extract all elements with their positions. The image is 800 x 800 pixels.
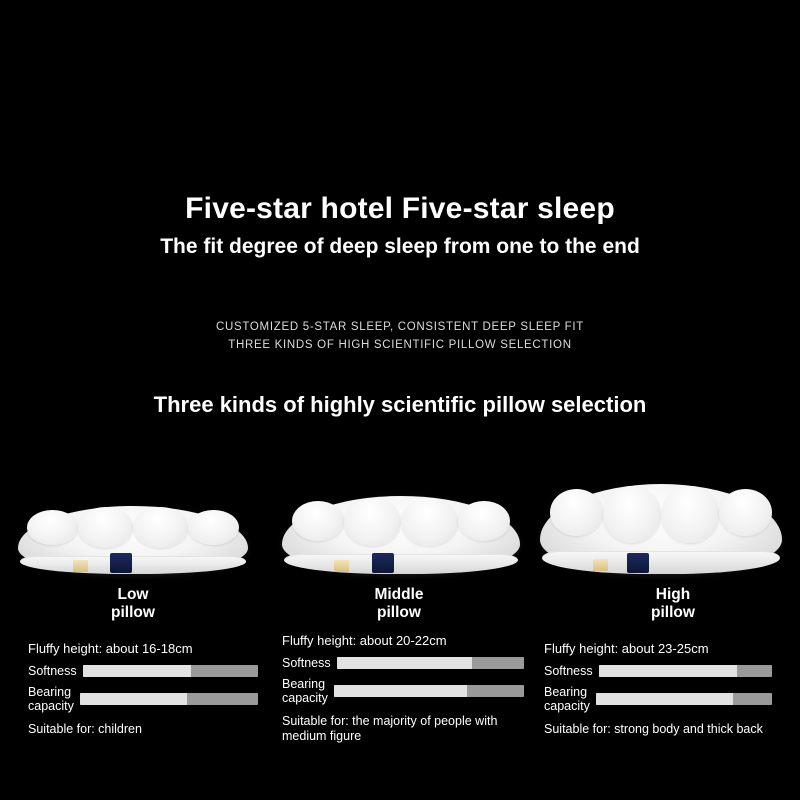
pillow-gold-tag: [593, 559, 608, 571]
softness-row: Softness: [544, 664, 772, 678]
bearing-capacity-bar: [596, 693, 772, 705]
pillow-name-line2: pillow: [618, 604, 728, 622]
pillow-puff: [292, 501, 344, 542]
pillow-name-low: Low pillow: [78, 586, 188, 622]
softness-bar: [83, 665, 258, 677]
pillow-name-high: High pillow: [618, 586, 728, 622]
pillow-puff: [78, 507, 133, 548]
page-subtitle: The fit degree of deep sleep from one to…: [0, 232, 800, 262]
suitable-for-text: Suitable for: strong body and thick back: [544, 722, 772, 737]
bearing-capacity-label-line1: Bearing: [544, 685, 590, 699]
bearing-capacity-bar-fill: [334, 685, 467, 697]
pillow-image-high: [540, 484, 782, 574]
bearing-capacity-label-line1: Bearing: [28, 685, 74, 699]
pillow-name-line2: pillow: [78, 604, 188, 622]
pillow-name-line2: pillow: [344, 604, 454, 622]
section-title: Three kinds of highly scientific pillow …: [0, 392, 800, 418]
softness-label: Softness: [28, 664, 77, 678]
bearing-capacity-bar-fill: [80, 693, 187, 705]
pillow-puff: [661, 486, 719, 544]
softness-bar: [337, 657, 524, 669]
caps-line-2: THREE KINDS OF HIGH SCIENTIFIC PILLOW SE…: [0, 336, 800, 354]
pillow-name-middle: Middle pillow: [344, 586, 454, 622]
fluffy-height-text: Fluffy height: about 20-22cm: [282, 632, 524, 649]
pillow-image-row: [0, 470, 800, 580]
caps-line-1: CUSTOMIZED 5-STAR SLEEP, CONSISTENT DEEP…: [0, 318, 800, 336]
pillow-image-middle: [282, 496, 520, 574]
softness-bar: [599, 665, 772, 677]
pillow-puff: [458, 501, 510, 542]
pillow-name-line1: Middle: [344, 586, 454, 604]
suitable-for-text: Suitable for: the majority of people wit…: [282, 714, 524, 744]
pillow-spec-low: Fluffy height: about 16-18cm Softness Be…: [28, 640, 258, 737]
pillow-puff: [27, 510, 78, 545]
pillow-spec-high: Fluffy height: about 23-25cm Softness Be…: [544, 640, 772, 737]
softness-bar-fill: [337, 657, 472, 669]
bearing-capacity-bar: [80, 693, 258, 705]
softness-label: Softness: [544, 664, 593, 678]
page-title: Five-star hotel Five-star sleep: [0, 190, 800, 228]
bearing-capacity-label-line2: capacity: [282, 691, 328, 705]
softness-label: Softness: [282, 656, 331, 670]
pillow-name-line1: High: [618, 586, 728, 604]
pillow-gold-tag: [73, 560, 88, 572]
bearing-capacity-row: Bearing capacity: [282, 677, 524, 705]
pillow-gold-tag: [334, 560, 349, 572]
bearing-capacity-label-line2: capacity: [28, 699, 74, 713]
bearing-capacity-bar-fill: [596, 693, 733, 705]
product-banner: Five-star hotel Five-star sleep The fit …: [0, 0, 800, 800]
fluffy-height-text: Fluffy height: about 23-25cm: [544, 640, 772, 657]
suitable-for-text: Suitable for: children: [28, 722, 258, 737]
bearing-capacity-label-line2: capacity: [544, 699, 590, 713]
headline-block: Five-star hotel Five-star sleep The fit …: [0, 190, 800, 262]
bearing-capacity-label-line1: Bearing: [282, 677, 328, 691]
fluffy-height-text: Fluffy height: about 16-18cm: [28, 640, 258, 657]
pillow-body: [282, 496, 520, 574]
pillow-puff: [401, 498, 458, 546]
pillow-puff: [133, 507, 188, 548]
caps-description: CUSTOMIZED 5-STAR SLEEP, CONSISTENT DEEP…: [0, 318, 800, 354]
pillow-body: [540, 484, 782, 574]
pillow-puff: [188, 510, 239, 545]
bearing-capacity-label: Bearing capacity: [282, 677, 328, 705]
pillow-brand-tag: [372, 553, 394, 573]
softness-bar-fill: [599, 665, 738, 677]
bearing-capacity-row: Bearing capacity: [28, 685, 258, 713]
pillow-spec-middle: Fluffy height: about 20-22cm Softness Be…: [282, 632, 524, 744]
pillow-puff: [719, 489, 772, 536]
softness-row: Softness: [28, 664, 258, 678]
pillow-name-line1: Low: [78, 586, 188, 604]
pillow-image-low: [18, 506, 248, 574]
pillow-puff: [344, 498, 401, 546]
pillow-brand-tag: [627, 553, 649, 573]
bearing-capacity-label: Bearing capacity: [28, 685, 74, 713]
pillow-puff: [603, 486, 661, 544]
pillow-puff: [550, 489, 603, 536]
bearing-capacity-bar: [334, 685, 524, 697]
pillow-brand-tag: [110, 553, 132, 573]
softness-row: Softness: [282, 656, 524, 670]
bearing-capacity-label: Bearing capacity: [544, 685, 590, 713]
bearing-capacity-row: Bearing capacity: [544, 685, 772, 713]
softness-bar-fill: [83, 665, 192, 677]
pillow-body: [18, 506, 248, 574]
